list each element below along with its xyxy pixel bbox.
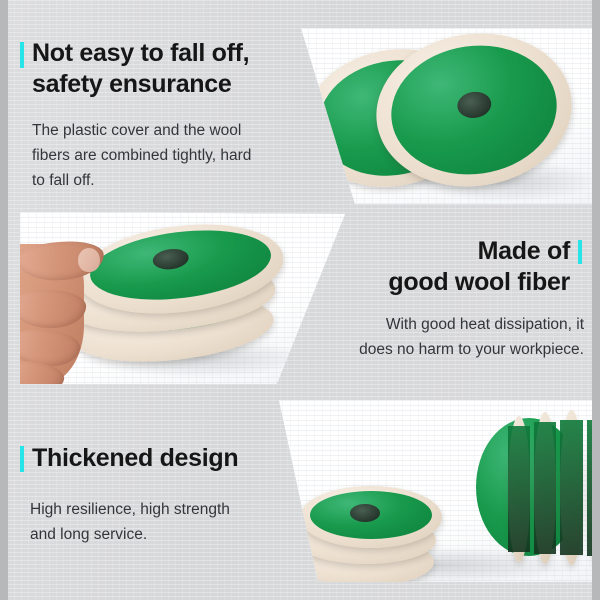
- left-edge-rail: [0, 0, 8, 600]
- wool-core: [560, 420, 583, 555]
- accent-bar-section-3: [20, 446, 24, 472]
- standing-disc: [508, 416, 530, 562]
- accent-bar-section-1: [20, 42, 24, 68]
- photo-disc-row: [266, 400, 592, 582]
- wool-core: [508, 426, 530, 552]
- body-not-easy-to-fall-off: The plastic cover and the wool fibers ar…: [32, 118, 322, 193]
- headline-not-easy-to-fall-off: Not easy to fall off, safety ensurance: [32, 38, 302, 99]
- polishing-disc-stack-top: [300, 486, 442, 548]
- product-infographic: Not easy to fall off, safety ensurance T…: [0, 0, 600, 600]
- center-hole: [350, 504, 380, 522]
- standing-disc: [560, 410, 583, 565]
- headline-thickened-design: Thickened design: [32, 443, 272, 474]
- wool-core: [534, 422, 556, 554]
- photo-two-discs: [292, 28, 592, 204]
- accent-bar-section-2: [578, 240, 582, 264]
- polishing-disc-front: [366, 28, 581, 199]
- body-thickened-design: High resilience, high strength and long …: [30, 497, 310, 547]
- body-made-of-good-wool-fiber: With good heat dissipation, it does no h…: [288, 312, 584, 362]
- hand: [20, 226, 130, 384]
- fingernail: [78, 248, 100, 272]
- right-edge-rail: [592, 0, 600, 600]
- headline-made-of-good-wool-fiber: Made of good wool fiber: [352, 236, 570, 297]
- standing-disc: [534, 412, 556, 564]
